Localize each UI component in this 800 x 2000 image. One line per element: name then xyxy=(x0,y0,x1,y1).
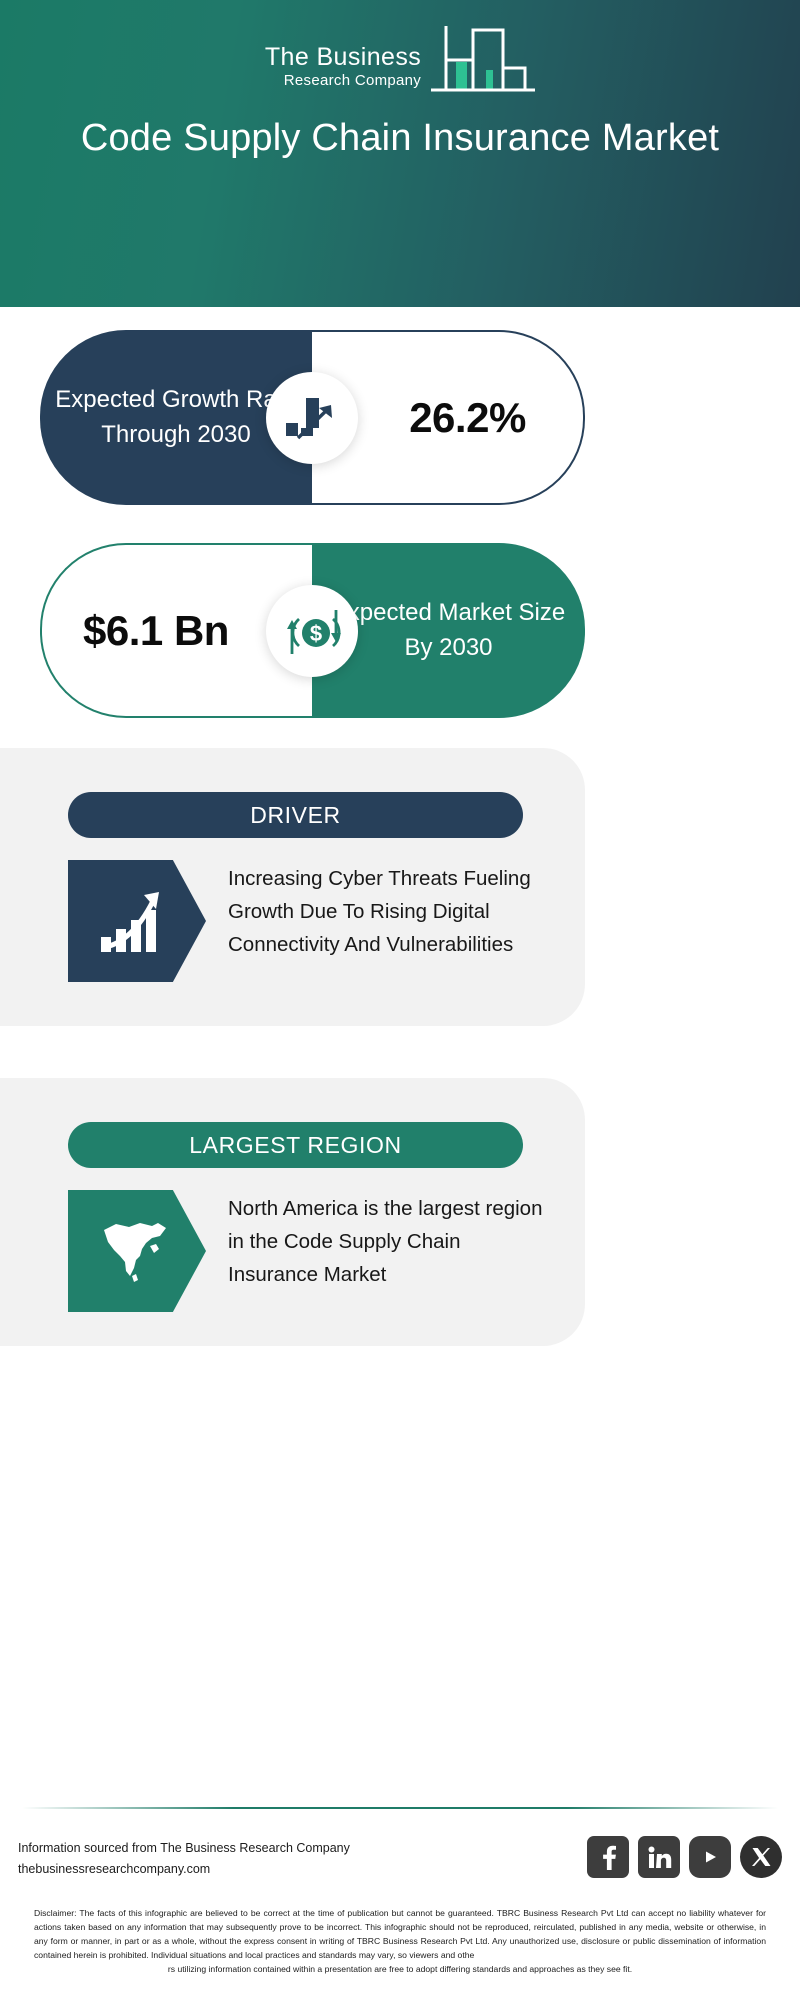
driver-text: Increasing Cyber Threats Fueling Growth … xyxy=(228,860,555,982)
largest-region-icon-tag xyxy=(68,1190,206,1312)
largest-region-body: North America is the largest region in t… xyxy=(68,1190,555,1312)
logo-line-2: Research Company xyxy=(265,73,421,88)
growth-bar-arrow-icon xyxy=(284,392,340,444)
panel-largest-region: LARGEST REGION North America is the larg… xyxy=(0,1078,585,1346)
driver-icon-tag xyxy=(68,860,206,982)
disclaimer-body: Disclaimer: The facts of this infographi… xyxy=(34,1908,766,1960)
company-logo: The Business Research Company xyxy=(0,22,800,94)
north-america-map-icon xyxy=(96,1216,178,1286)
driver-body: Increasing Cyber Threats Fueling Growth … xyxy=(68,860,555,982)
header-banner: The Business Research Company Code Suppl… xyxy=(0,0,800,307)
svg-text:$: $ xyxy=(310,621,322,646)
panel-driver: DRIVER Increasing Cyber Threats Fueling … xyxy=(0,748,585,1026)
source-link[interactable]: thebusinessresearchcompany.com xyxy=(18,1859,350,1880)
stat-card-market-size: $6.1 Bn Expected Market Size By 2030 $ xyxy=(40,543,585,718)
linkedin-icon[interactable] xyxy=(638,1836,680,1878)
market-size-icon-badge: $ xyxy=(266,585,358,677)
driver-pill: DRIVER xyxy=(68,792,523,838)
growth-icon-badge xyxy=(266,372,358,464)
growth-chart-arrow-icon xyxy=(95,885,179,957)
bar-chart-logo-icon xyxy=(423,22,535,94)
largest-region-pill-label: LARGEST REGION xyxy=(189,1132,401,1159)
page-title: Code Supply Chain Insurance Market xyxy=(40,116,760,161)
disclaimer-last-line: rs utilizing information contained withi… xyxy=(34,1963,766,1977)
stat-card-growth-rate: Expected Growth Rate Through 2030 26.2% xyxy=(40,330,585,505)
largest-region-pill: LARGEST REGION xyxy=(68,1122,523,1168)
largest-region-text: North America is the largest region in t… xyxy=(228,1190,555,1312)
youtube-icon[interactable] xyxy=(689,1836,731,1878)
dollar-refresh-icon: $ xyxy=(282,602,342,660)
market-size-value: $6.1 Bn xyxy=(83,607,271,655)
social-links xyxy=(587,1836,782,1878)
logo-text: The Business Research Company xyxy=(265,45,421,94)
footer-divider xyxy=(22,1807,778,1809)
facebook-icon[interactable] xyxy=(587,1836,629,1878)
growth-value: 26.2% xyxy=(369,394,526,442)
source-attribution: Information sourced from The Business Re… xyxy=(18,1838,350,1879)
x-twitter-icon[interactable] xyxy=(740,1836,782,1878)
disclaimer-text: Disclaimer: The facts of this infographi… xyxy=(34,1907,766,1977)
logo-line-1: The Business xyxy=(265,45,421,70)
driver-pill-label: DRIVER xyxy=(250,802,341,829)
source-line-1: Information sourced from The Business Re… xyxy=(18,1838,350,1859)
infographic-page: The Business Research Company Code Suppl… xyxy=(0,0,800,2000)
